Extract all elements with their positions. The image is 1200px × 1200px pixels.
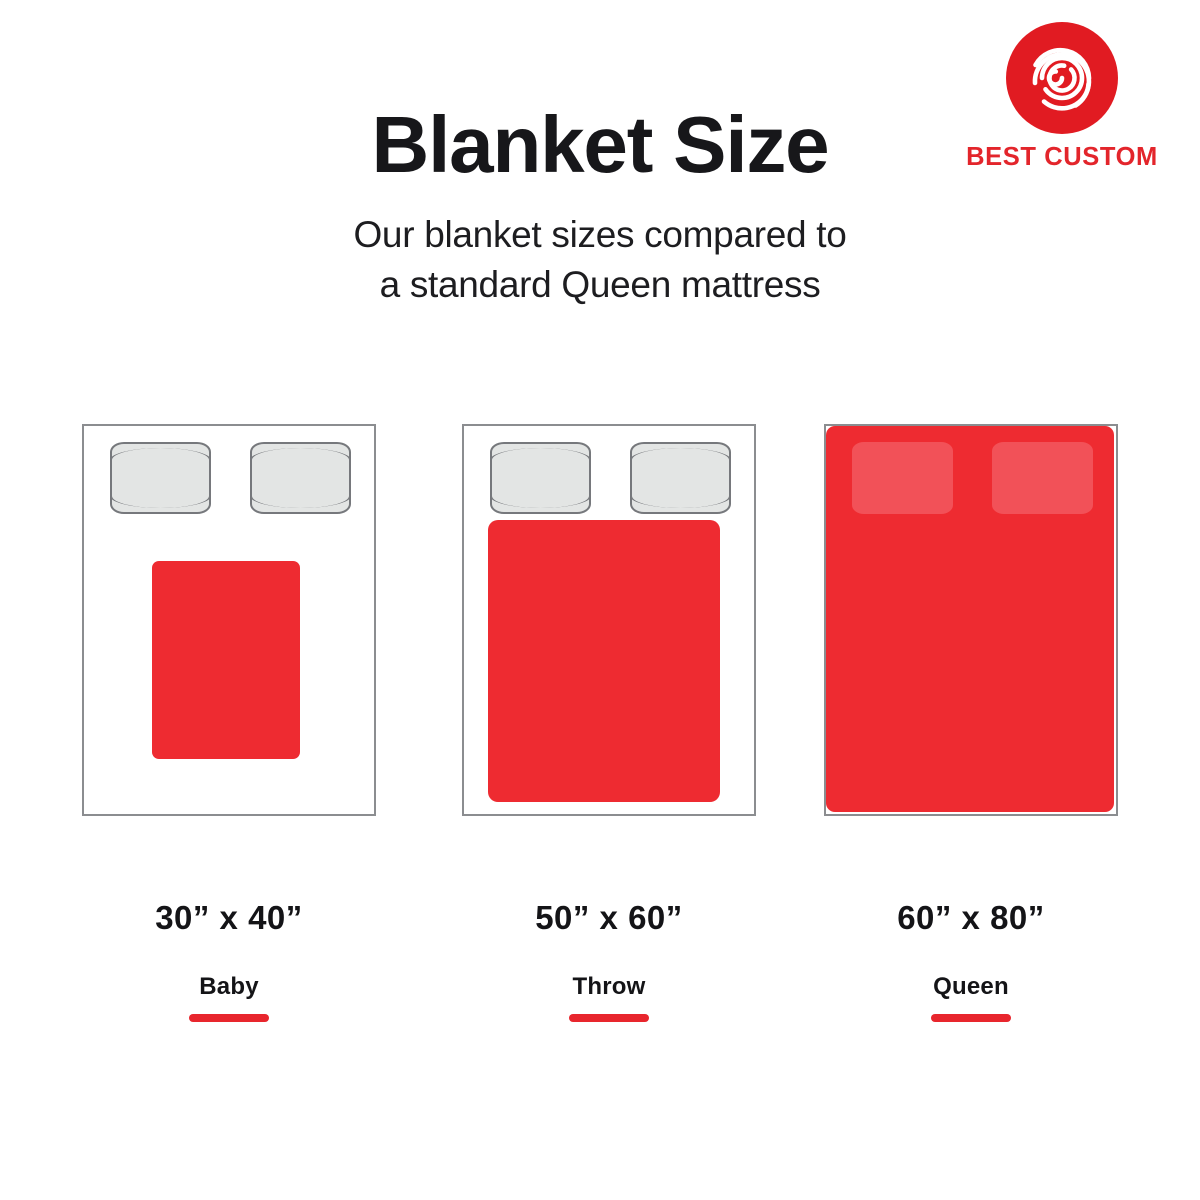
bed-comparison-row <box>0 424 1200 824</box>
page-subtitle-line-1: Our blanket sizes compared to <box>353 214 846 255</box>
pillow-left <box>490 442 591 514</box>
pillow-left <box>110 442 211 514</box>
caption-throw: 50” x 60” Throw <box>462 900 756 1022</box>
caption-label: Queen <box>824 974 1118 1000</box>
caption-underline <box>931 1014 1011 1022</box>
pillow-right <box>630 442 731 514</box>
page-subtitle-line-2: a standard Queen mattress <box>380 264 821 305</box>
pillow-right <box>250 442 351 514</box>
caption-dimensions: 60” x 80” <box>824 900 1118 936</box>
bed-diagram-throw <box>462 424 756 816</box>
caption-baby: 30” x 40” Baby <box>82 900 376 1022</box>
caption-label: Baby <box>82 974 376 1000</box>
caption-label: Throw <box>462 974 756 1000</box>
blanket-throw <box>488 520 720 802</box>
page-subtitle: Our blanket sizes compared to a standard… <box>0 210 1200 310</box>
caption-underline <box>189 1014 269 1022</box>
header-block: Blanket Size Our blanket sizes compared … <box>0 102 1200 310</box>
caption-underline <box>569 1014 649 1022</box>
bed-diagram-queen <box>824 424 1118 816</box>
caption-row: 30” x 40” Baby 50” x 60” Throw 60” x 80”… <box>0 900 1200 1050</box>
bed-diagram-baby <box>82 424 376 816</box>
caption-dimensions: 30” x 40” <box>82 900 376 936</box>
caption-queen: 60” x 80” Queen <box>824 900 1118 1022</box>
pillow-right <box>992 442 1093 514</box>
blanket-baby <box>152 561 300 759</box>
page-title: Blanket Size <box>0 102 1200 188</box>
pillow-left <box>852 442 953 514</box>
caption-dimensions: 50” x 60” <box>462 900 756 936</box>
